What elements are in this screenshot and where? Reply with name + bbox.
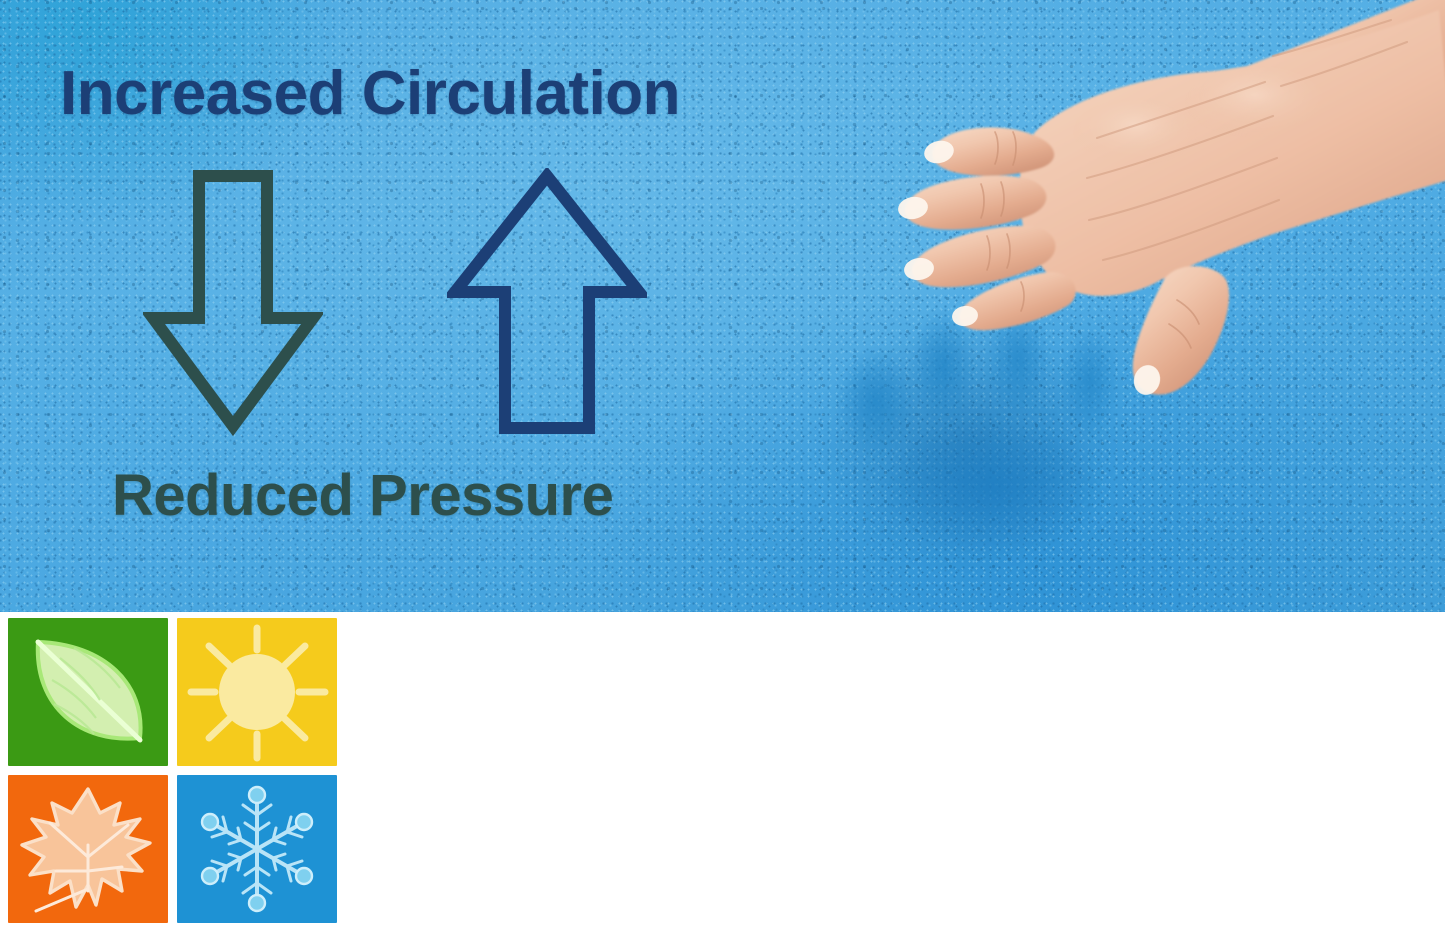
memory-foam-photo: Increased Circulation Reduced Pressure <box>0 0 1445 612</box>
increased-circulation-label: Increased Circulation <box>60 58 680 129</box>
sun-icon <box>177 618 337 766</box>
down-arrow-icon <box>143 168 323 438</box>
summer-sun-tile <box>177 618 337 766</box>
winter-snow-tile <box>177 775 337 923</box>
hand-photo <box>835 0 1445 442</box>
reduced-pressure-label: Reduced Pressure <box>112 462 613 529</box>
spring-leaf-tile <box>8 618 168 766</box>
product-graphic: Increased Circulation Reduced Pressure <box>0 0 1445 927</box>
info-panel: 100% GEL-Infused Memory Foam with Temper… <box>0 612 1445 927</box>
leaf-icon <box>8 618 168 766</box>
autumn-maple-tile <box>8 775 168 923</box>
maple-leaf-icon <box>8 775 168 923</box>
up-arrow-icon <box>447 168 647 438</box>
season-tile-grid <box>8 618 338 926</box>
snowflake-icon <box>177 775 337 923</box>
